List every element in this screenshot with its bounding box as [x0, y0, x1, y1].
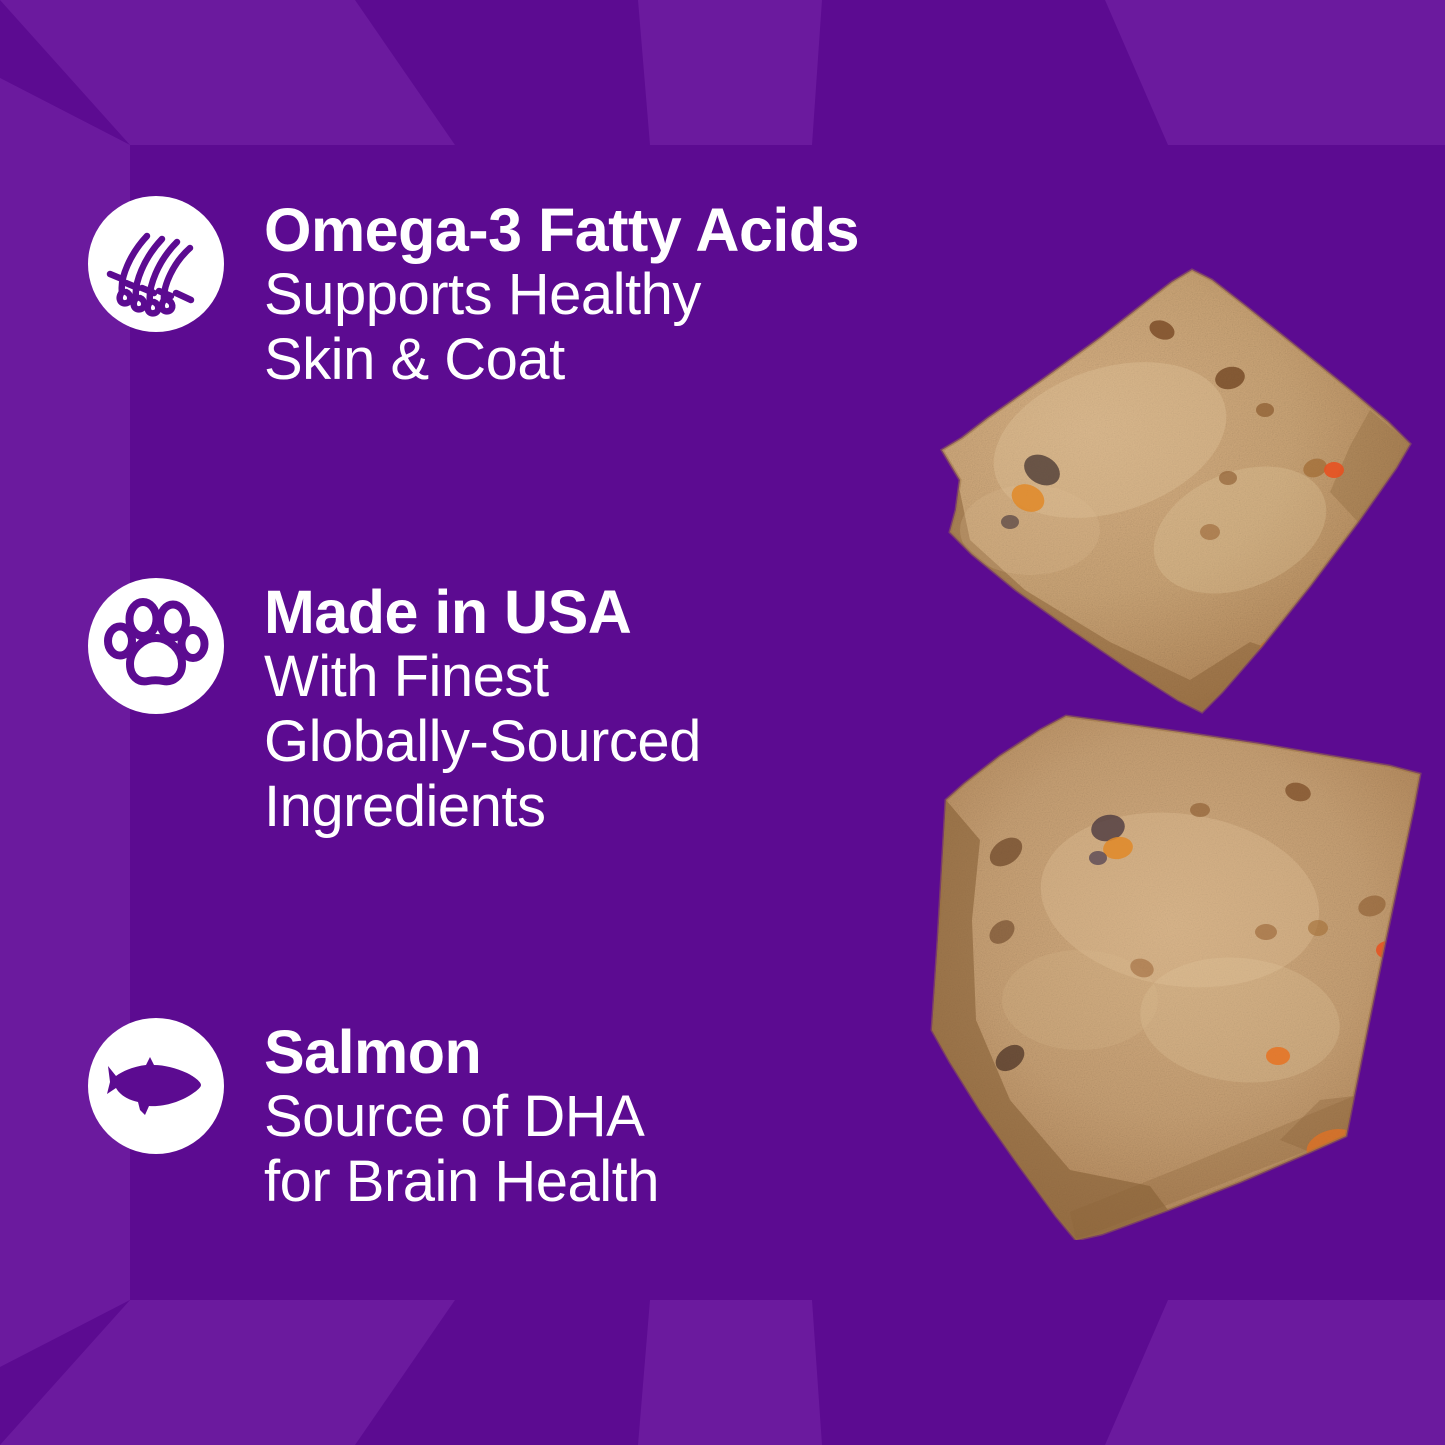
feature-item-omega-3: Omega-3 Fatty Acids Supports Healthy Ski…: [88, 196, 859, 393]
feature-item-salmon: Salmon Source of DHA for Brain Health: [88, 1018, 659, 1215]
feature-text-block: Omega-3 Fatty Acids Supports Healthy Ski…: [264, 196, 859, 393]
feature-text-block: Salmon Source of DHA for Brain Health: [264, 1018, 659, 1215]
feature-line: for Brain Health: [264, 1150, 659, 1215]
feature-title: Salmon: [264, 1020, 659, 1085]
feature-text-block: Made in USA With Finest Globally-Sourced…: [264, 578, 701, 840]
paw-print-icon: [88, 578, 224, 714]
feature-line: Ingredients: [264, 775, 701, 840]
benefits-panel: Omega-3 Fatty Acids Supports Healthy Ski…: [0, 0, 1445, 1445]
feature-title: Made in USA: [264, 580, 701, 645]
feature-line: Globally-Sourced: [264, 710, 701, 775]
salmon-fish-icon: [88, 1018, 224, 1154]
dog-treat-biscuit-top: [810, 230, 1430, 730]
feature-line: With Finest: [264, 645, 701, 710]
dog-treat-biscuit-bottom: [880, 700, 1440, 1240]
feature-title: Omega-3 Fatty Acids: [264, 198, 859, 263]
feature-line: Supports Healthy: [264, 263, 859, 328]
hair-follicle-icon: [88, 196, 224, 332]
feature-list: Omega-3 Fatty Acids Supports Healthy Ski…: [0, 0, 860, 1445]
feature-item-made-in-usa: Made in USA With Finest Globally-Sourced…: [88, 578, 701, 840]
feature-line: Skin & Coat: [264, 328, 859, 393]
feature-line: Source of DHA: [264, 1085, 659, 1150]
